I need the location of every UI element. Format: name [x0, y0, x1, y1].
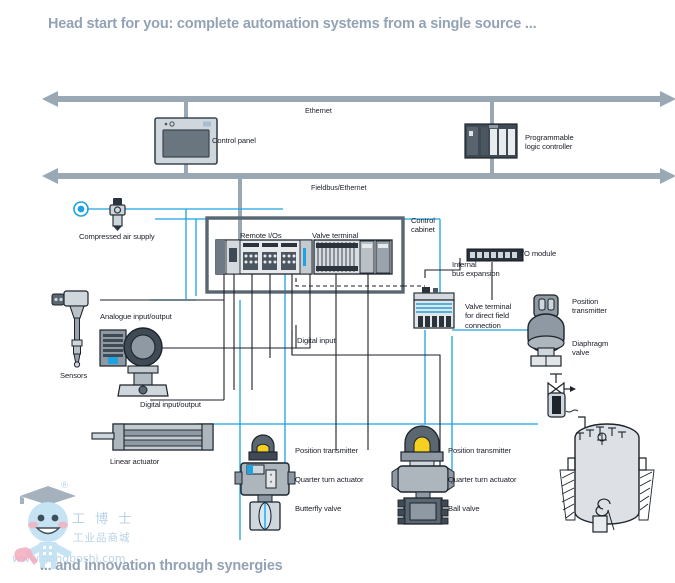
label-position-transmitter-ball: Position transmitter: [448, 446, 511, 455]
control-panel-device[interactable]: [155, 118, 217, 164]
bus-fieldbus: [42, 168, 675, 184]
label-compressed-air-supply: Compressed air supply: [79, 232, 155, 241]
bus-label-fieldbus: Fieldbus/Ethernet: [311, 183, 367, 192]
label-control-cabinet: Control cabinet: [411, 216, 435, 235]
linear-actuator-device[interactable]: [92, 424, 213, 450]
label-ball-valve: Ball valve: [448, 504, 480, 513]
label-quarter-turn-butterfly: Quarter turn actuator: [295, 475, 363, 484]
label-remote-ios: Remote I/Os: [240, 231, 282, 240]
label-digital-io: Digital input/output: [140, 400, 201, 409]
valve-terminal-field-device[interactable]: [414, 287, 454, 328]
bus-drop-lines: [186, 99, 492, 245]
bus-ethernet: [42, 91, 675, 107]
sensors-device[interactable]: [52, 291, 88, 367]
label-valve-terminal: Valve terminal: [312, 231, 358, 240]
plc-device[interactable]: [465, 124, 517, 158]
ball-valve-assembly[interactable]: [392, 426, 454, 524]
diagram-canvas: Head start for you: complete automation …: [0, 0, 675, 583]
label-control-panel: Control panel: [212, 136, 256, 145]
position-transmitter-ball-icon: [401, 426, 443, 466]
label-quarter-turn-ball: Quarter turn actuator: [448, 475, 516, 484]
air-service-unit-icon: [110, 198, 125, 231]
bus-label-ethernet: Ethernet: [305, 106, 332, 115]
page-footer: ... and innovation through synergies: [40, 558, 283, 574]
label-diaphragm-valve: Diaphragm valve: [572, 339, 608, 358]
label-butterfly-valve: Butterfly valve: [295, 504, 341, 513]
position-transmitter-butterfly-icon: [249, 435, 277, 460]
label-io-module: I/O module: [520, 249, 556, 258]
label-valve-terminal-field: Valve terminal for direct field connecti…: [465, 302, 511, 330]
label-sensors: Sensors: [60, 371, 87, 380]
label-plc: Programmable logic controller: [525, 133, 574, 152]
remote-ios-device[interactable]: [216, 240, 312, 274]
process-control-valve[interactable]: [548, 374, 578, 417]
label-internal-bus-expansion: Internal bus expansion: [452, 260, 500, 279]
label-position-transmitter-butterfly: Position transmitter: [295, 446, 358, 455]
label-analogue-io: Analogue input/output: [100, 312, 172, 321]
analogue-io-device[interactable]: [100, 328, 168, 396]
label-position-transmitter-diaphragm: Position transmitter: [572, 297, 607, 316]
valve-terminal-device[interactable]: [314, 240, 392, 274]
process-tank-vessel: [560, 417, 654, 532]
label-digital-input: Digital input: [297, 336, 335, 345]
diaphragm-valve-assembly[interactable]: [528, 295, 564, 366]
compressed-air-supply-device[interactable]: [74, 198, 125, 231]
butterfly-valve-assembly[interactable]: * *: [235, 435, 295, 530]
label-linear-actuator: Linear actuator: [110, 457, 159, 466]
